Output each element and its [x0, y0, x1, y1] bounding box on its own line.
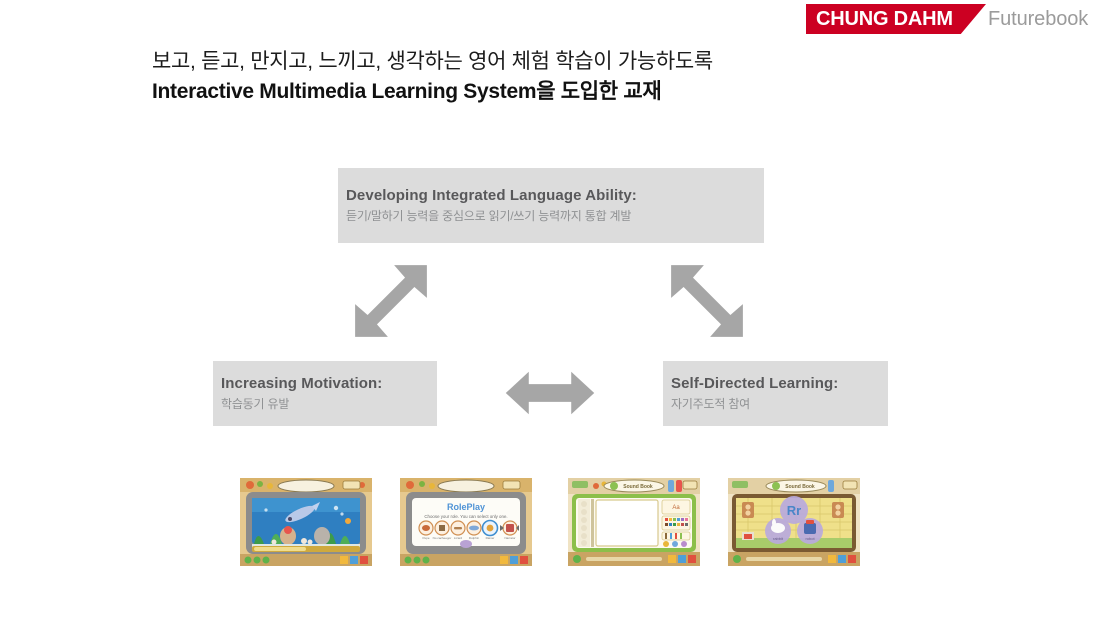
- svg-text:rabbit: rabbit: [773, 536, 784, 541]
- concept-box-subtitle: 자기주도적 참여: [671, 395, 874, 412]
- svg-text:Sound Book: Sound Book: [623, 484, 653, 490]
- double-arrow-diagonal-up-right-icon: [352, 262, 430, 340]
- concept-box-developing-integrated-language-ability: Developing Integrated Language Ability: …: [338, 168, 764, 243]
- brand-subname: Futurebook: [988, 8, 1088, 31]
- thumbnail-aquarium-scene[interactable]: [240, 478, 372, 566]
- double-arrow-horizontal-icon: [505, 370, 595, 416]
- svg-text:Pepe: Pepe: [422, 536, 429, 540]
- concept-box-self-directed-learning: Self-Directed Learning: 자기주도적 참여: [663, 361, 888, 426]
- svg-text:Sound Book: Sound Book: [785, 484, 815, 490]
- page-headline: 보고, 듣고, 만지고, 느끼고, 생각하는 영어 체험 학습이 가능하도록 I…: [152, 48, 1052, 107]
- thumbnail-roleplay-screen[interactable]: RolePlay Choose your role. You can selec…: [400, 478, 532, 566]
- svg-text:Dolphin: Dolphin: [469, 536, 480, 540]
- svg-text:robot: robot: [805, 536, 815, 541]
- brand-logo: CHUNG DAHM Futurebook: [806, 4, 1092, 34]
- concept-box-subtitle: 학습동기 유발: [221, 395, 423, 412]
- double-arrow-diagonal-up-left-icon: [668, 262, 746, 340]
- concept-box-title: Self-Directed Learning:: [671, 375, 874, 392]
- svg-text:Lizard: Lizard: [454, 536, 463, 540]
- svg-text:Rainer: Rainer: [486, 536, 495, 540]
- headline-line-2: Interactive Multimedia Learning System을 …: [152, 78, 1052, 106]
- svg-text:Narrator: Narrator: [504, 536, 515, 540]
- svg-text:No cacheegor: No cacheegor: [433, 536, 452, 540]
- svg-text:Aa: Aa: [672, 505, 680, 511]
- concept-box-title: Increasing Motivation:: [221, 375, 423, 392]
- concept-box-increasing-motivation: Increasing Motivation: 학습동기 유발: [213, 361, 437, 426]
- svg-text:RolePlay: RolePlay: [447, 502, 485, 512]
- thumbnail-letter-rr[interactable]: Sound Book Rr rabbit robot: [728, 478, 860, 566]
- concept-box-title: Developing Integrated Language Ability:: [346, 187, 750, 204]
- thumbnail-drawing-notebook[interactable]: Sound Book Aa: [568, 478, 700, 566]
- brand-name: CHUNG DAHM: [816, 8, 953, 31]
- headline-line-1: 보고, 듣고, 만지고, 느끼고, 생각하는 영어 체험 학습이 가능하도록: [152, 48, 1052, 76]
- svg-text:Choose your role. You can sele: Choose your role. You can select only on…: [424, 514, 507, 519]
- svg-text:Rr: Rr: [787, 503, 801, 518]
- concept-box-subtitle: 듣기/말하기 능력을 중심으로 읽기/쓰기 능력까지 통합 계발: [346, 207, 750, 224]
